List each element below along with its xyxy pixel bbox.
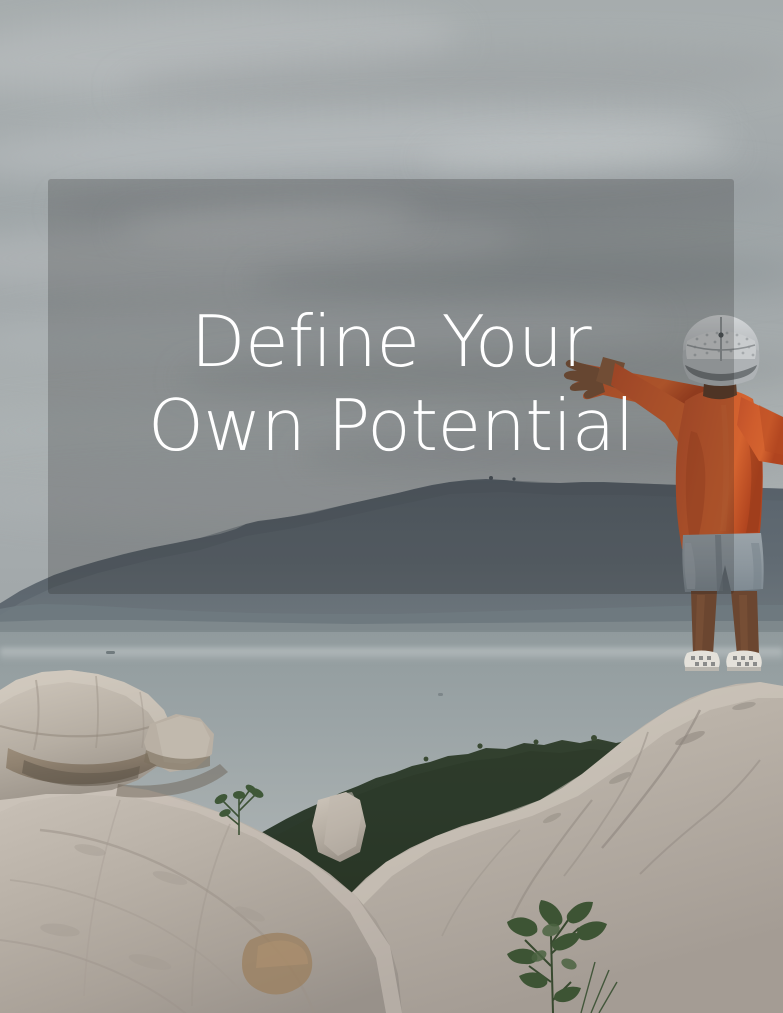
- green-plant: [495, 870, 625, 1013]
- cloud-band: [119, 36, 783, 122]
- headline-line-2: Own Potential: [148, 384, 634, 468]
- cloud-band: [0, 0, 462, 104]
- hero-banner: Define Your Own Potential: [0, 0, 783, 1013]
- page-title: Define Your Own Potential: [48, 179, 734, 594]
- green-plant: [205, 765, 275, 835]
- cloud-band: [420, 134, 741, 175]
- rock-outcrop: [0, 640, 783, 1013]
- headline-line-1: Define Your: [191, 300, 591, 384]
